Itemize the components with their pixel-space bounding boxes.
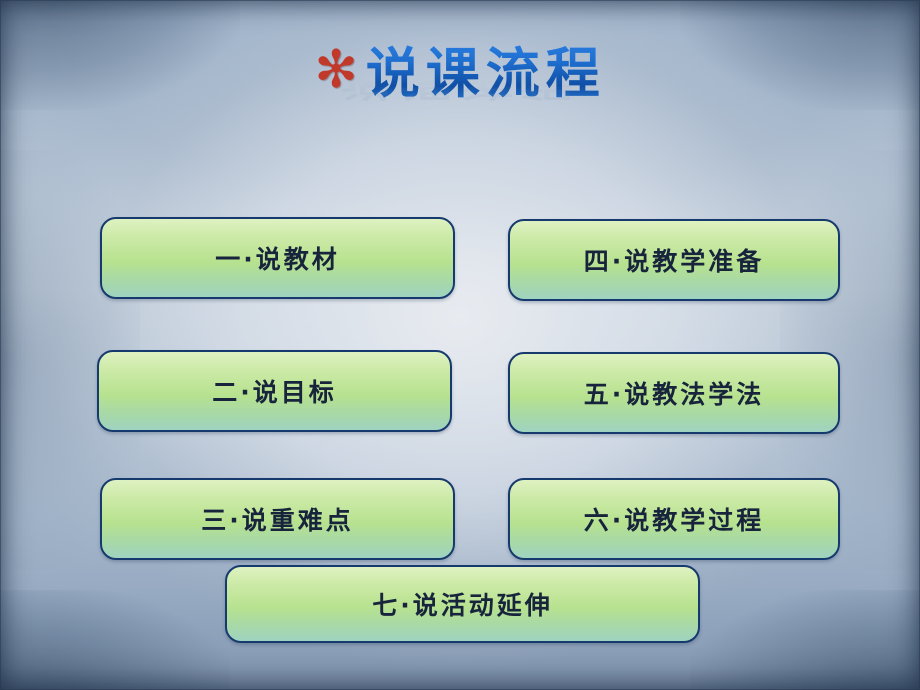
flow-item-4-label: 四·说教学准备: [584, 242, 765, 278]
flow-item-6-label: 六·说教学过程: [584, 501, 765, 537]
flow-item-4[interactable]: 四·说教学准备: [508, 219, 840, 301]
flow-item-3-label: 三·说重难点: [201, 501, 354, 537]
flow-items-group: 一·说教材 四·说教学准备 二·说目标 五·说教法学法 三·说重难点 六·说教学…: [0, 0, 920, 690]
flow-item-7[interactable]: 七·说活动延伸: [225, 565, 700, 643]
flow-item-2-label: 二·说目标: [212, 373, 337, 409]
flow-item-3[interactable]: 三·说重难点: [100, 478, 455, 560]
flow-item-5[interactable]: 五·说教法学法: [508, 352, 840, 434]
flow-item-6[interactable]: 六·说教学过程: [508, 478, 840, 560]
flow-item-7-label: 七·说活动延伸: [372, 586, 553, 622]
flow-item-5-label: 五·说教法学法: [584, 375, 765, 411]
flow-item-2[interactable]: 二·说目标: [97, 350, 452, 432]
flow-item-1-label: 一·说教材: [215, 240, 340, 276]
flow-item-1[interactable]: 一·说教材: [100, 217, 455, 299]
slide-canvas: ✻ 说课流程 说课流程 一·说教材 四·说教学准备 二·说目标 五·说教法学法 …: [0, 0, 920, 690]
